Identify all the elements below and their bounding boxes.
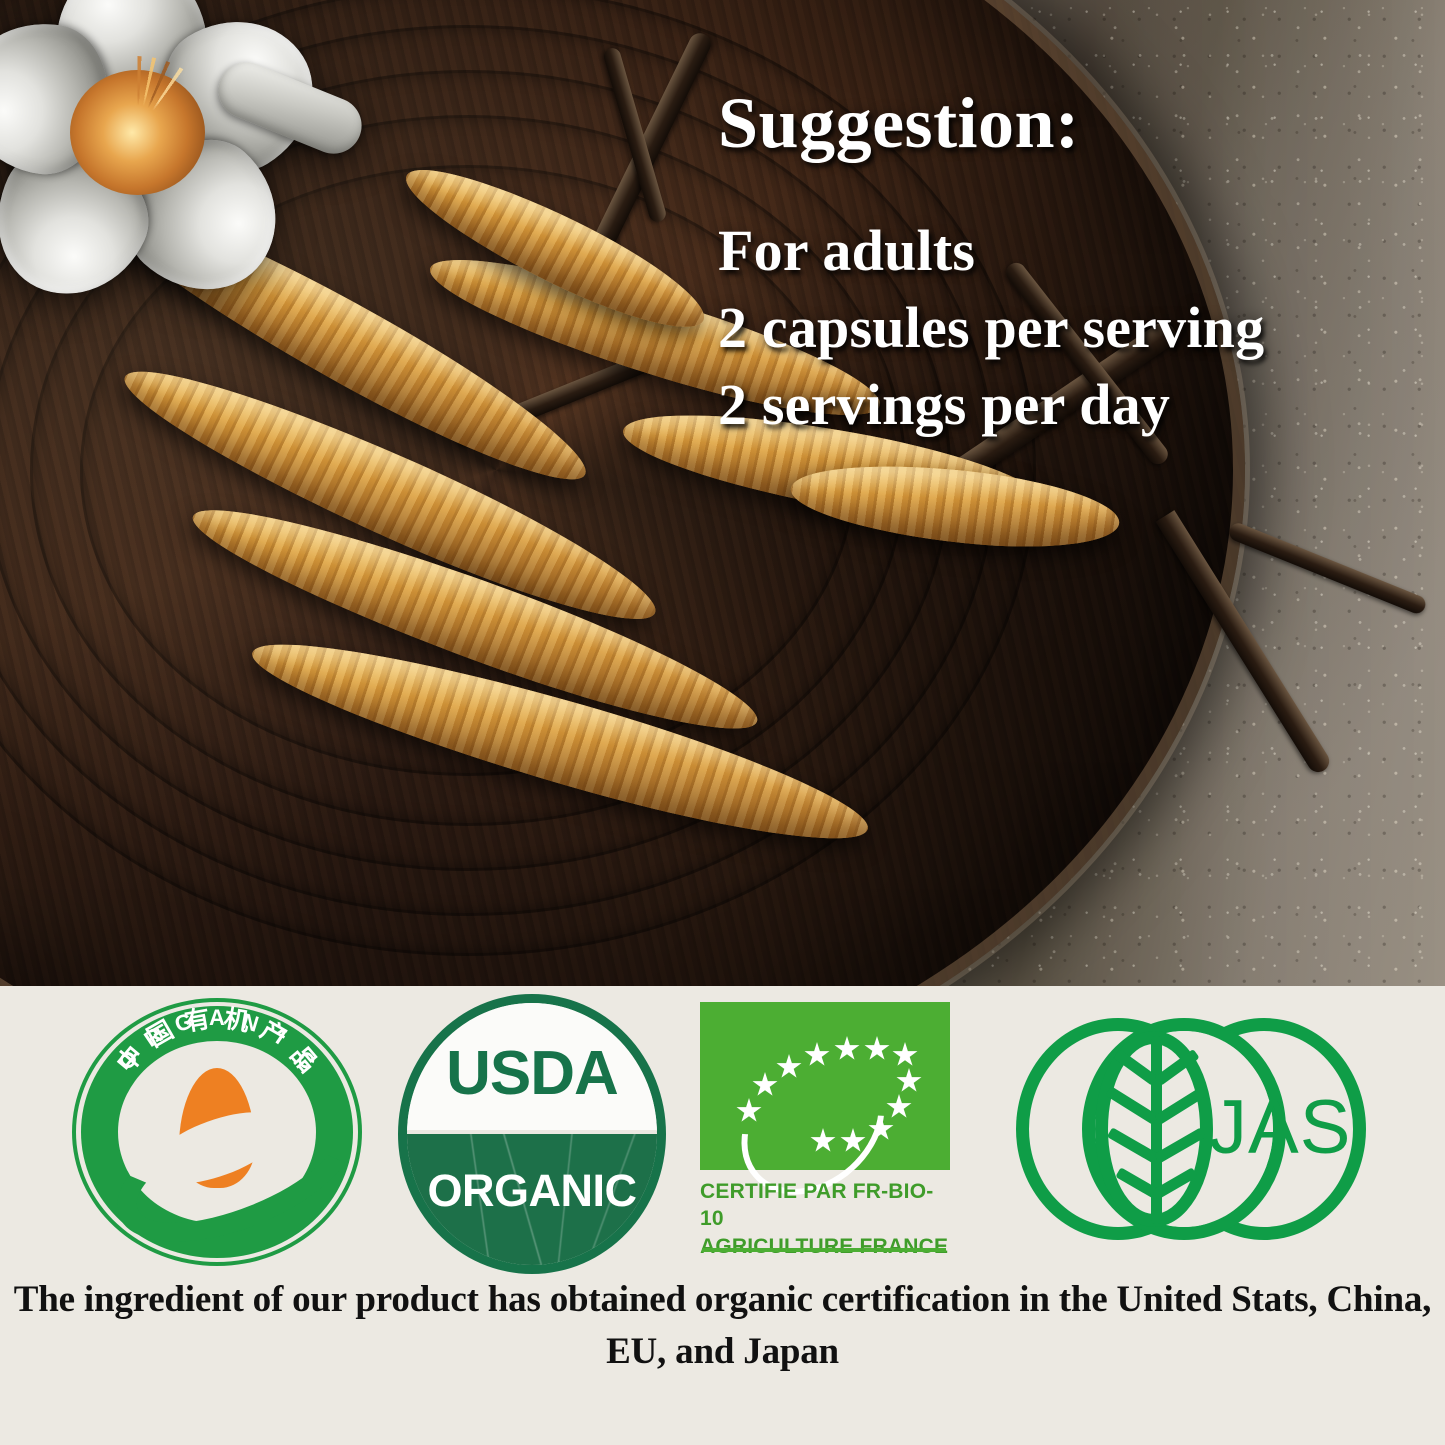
arc-char: I [271,1025,291,1050]
eu-green-panel [700,1002,950,1170]
suggestion-text-block: Suggestion: For adults 2 capsules per se… [718,86,1438,444]
usda-organic-icon: USDA ORGANIC [398,994,666,1274]
jas-organic-icon: JAS [1016,1018,1366,1240]
suggestion-lines: For adults 2 capsules per serving 2 serv… [718,212,1438,443]
usda-label: USDA [446,1029,618,1105]
jas-label: JAS [1209,1090,1351,1166]
arc-char: A [209,1005,225,1031]
arc-char: G [172,1008,196,1038]
eu-star [896,1068,922,1094]
eu-star [892,1042,918,1068]
suggestion-line-2: 2 capsules per serving [718,289,1438,366]
arc-char: C [290,1046,320,1075]
certification-caption: The ingredient of our product has obtain… [0,1274,1445,1378]
silver-flower-ornament [0,0,340,330]
china-organic-bottom-arc-text: ORGANIC [72,998,362,1266]
suggestion-title: Suggestion: [718,86,1438,160]
eu-organic-icon: CERTIFIE PAR FR-BIO-10 AGRICULTURE FRANC… [700,1002,950,1260]
usda-bottom-half: ORGANIC [407,1131,657,1265]
usda-divider-line [407,1130,657,1134]
arc-char: O [113,1045,144,1075]
eu-star [864,1036,890,1062]
eu-star [886,1094,912,1120]
flower-stamens [70,70,205,195]
arc-char: R [139,1022,167,1052]
certification-footer: 中国有机产品 ORGANIC USDA ORGANIC CERTIFI [0,986,1445,1445]
usda-organic-label: ORGANIC [428,1168,637,1229]
arc-char: N [239,1008,262,1038]
suggestion-line-1: For adults [718,212,1438,289]
eu-underline [702,1248,946,1252]
eu-caption-line-1: CERTIFIE PAR FR-BIO-10 [700,1178,950,1233]
certification-logo-row: 中国有机产品 ORGANIC USDA ORGANIC CERTIFI [0,986,1445,1268]
china-organic-icon: 中国有机产品 ORGANIC [72,998,362,1266]
eu-caption-line-2: AGRICULTURE FRANCE [700,1233,950,1260]
usda-top-half: USDA [407,1003,657,1131]
hero-photo: Suggestion: For adults 2 capsules per se… [0,0,1445,986]
suggestion-line-3: 2 servings per day [718,366,1438,443]
product-marketing-image: Suggestion: For adults 2 capsules per se… [0,0,1445,1445]
